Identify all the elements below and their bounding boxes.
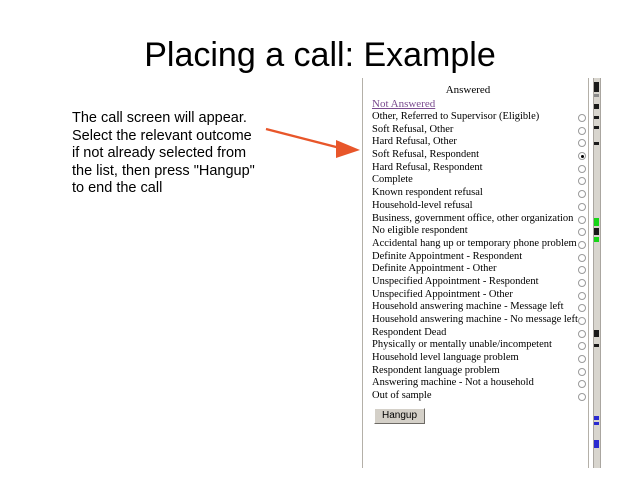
- outcome-radio-button[interactable]: [578, 355, 586, 363]
- outcome-radio-button[interactable]: [578, 266, 586, 274]
- outcome-row[interactable]: Household answering machine - No message…: [363, 314, 590, 327]
- scrollbar-track[interactable]: [593, 78, 601, 468]
- outcome-radio-button[interactable]: [578, 152, 586, 160]
- outcome-row[interactable]: Answering machine - Not a household: [363, 377, 590, 390]
- outcome-radio-button[interactable]: [578, 254, 586, 262]
- sliver-content-mark: [594, 344, 599, 347]
- outcome-radio-button[interactable]: [578, 279, 586, 287]
- outcome-radio-button[interactable]: [578, 292, 586, 300]
- outcome-label: Respondent Dead: [372, 327, 446, 340]
- outcome-label: Respondent language problem: [372, 365, 500, 378]
- outcome-row[interactable]: Definite Appointment - Other: [363, 263, 590, 276]
- outcome-radio-button[interactable]: [578, 241, 586, 249]
- outcome-row[interactable]: Known respondent refusal: [363, 187, 590, 200]
- outcome-row[interactable]: Business, government office, other organ…: [363, 213, 590, 226]
- outcome-radio-button[interactable]: [578, 177, 586, 185]
- outcome-label: Hard Refusal, Other: [372, 136, 457, 149]
- outcome-row[interactable]: Respondent language problem: [363, 365, 590, 378]
- not-answered-link[interactable]: Not Answered: [372, 98, 435, 110]
- caption-line: The call screen will appear.: [72, 110, 282, 128]
- sliver-content-mark: [594, 218, 599, 226]
- outcome-label: Other, Referred to Supervisor (Eligible): [372, 111, 539, 124]
- sliver-content-mark: [594, 104, 599, 109]
- outcome-radio-button[interactable]: [578, 393, 586, 401]
- sliver-content-mark: [594, 142, 599, 145]
- outcome-row[interactable]: Hard Refusal, Respondent: [363, 162, 590, 175]
- outcome-row[interactable]: Physically or mentally unable/incompeten…: [363, 339, 590, 352]
- outcome-radio-button[interactable]: [578, 330, 586, 338]
- outcome-row[interactable]: Hard Refusal, Other: [363, 136, 590, 149]
- outcome-label: Household level language problem: [372, 352, 519, 365]
- outcome-row[interactable]: Out of sample: [363, 390, 590, 403]
- outcome-label: Hard Refusal, Respondent: [372, 162, 483, 175]
- outcome-radio-button[interactable]: [578, 342, 586, 350]
- outcome-radio-button[interactable]: [578, 114, 586, 122]
- outcome-radio-button[interactable]: [578, 228, 586, 236]
- outcome-label: Business, government office, other organ…: [372, 213, 573, 226]
- sliver-content-mark: [594, 82, 599, 92]
- answered-header-label: Answered: [363, 84, 573, 96]
- instruction-caption: The call screen will appear. Select the …: [72, 110, 282, 198]
- outcome-row[interactable]: Household answering machine - Message le…: [363, 301, 590, 314]
- slide-canvas: Placing a call: Example The call screen …: [0, 0, 640, 480]
- page-title: Placing a call: Example: [0, 36, 640, 75]
- outcome-row[interactable]: Definite Appointment - Respondent: [363, 251, 590, 264]
- outcome-row[interactable]: Respondent Dead: [363, 327, 590, 340]
- outcome-radio-button[interactable]: [578, 317, 586, 325]
- outcome-label: Definite Appointment - Respondent: [372, 251, 522, 264]
- outcome-radio-button[interactable]: [578, 190, 586, 198]
- outcome-label: Accidental hang up or temporary phone pr…: [372, 238, 577, 251]
- outcome-radio-button[interactable]: [578, 139, 586, 147]
- outcome-radio-button[interactable]: [578, 304, 586, 312]
- outcome-label: Household-level refusal: [372, 200, 473, 213]
- outcome-label: Physically or mentally unable/incompeten…: [372, 339, 552, 352]
- outcome-radio-button[interactable]: [578, 203, 586, 211]
- outcome-radio-button[interactable]: [578, 216, 586, 224]
- sliver-content-mark: [594, 330, 599, 337]
- outcome-row[interactable]: Unspecified Appointment - Other: [363, 289, 590, 302]
- outcome-row[interactable]: Household level language problem: [363, 352, 590, 365]
- sliver-content-mark: [594, 440, 599, 448]
- sliver-content-mark: [594, 237, 599, 242]
- sliver-content-mark: [594, 416, 599, 420]
- outcome-radio-button[interactable]: [578, 380, 586, 388]
- outcome-row[interactable]: Soft Refusal, Other: [363, 124, 590, 137]
- sliver-content-mark: [594, 94, 599, 97]
- outcome-label: No eligible respondent: [372, 225, 468, 238]
- background-window-sliver: [589, 78, 640, 468]
- outcome-row[interactable]: Accidental hang up or temporary phone pr…: [363, 238, 590, 251]
- sliver-content-mark: [594, 116, 599, 119]
- outcome-label: Out of sample: [372, 390, 432, 403]
- outcome-label: Known respondent refusal: [372, 187, 483, 200]
- outcome-label: Soft Refusal, Other: [372, 124, 453, 137]
- outcome-label: Soft Refusal, Respondent: [372, 149, 479, 162]
- outcome-label: Unspecified Appointment - Other: [372, 289, 513, 302]
- outcome-row[interactable]: Household-level refusal: [363, 200, 590, 213]
- call-screen-panel: Answered Not Answered Other, Referred to…: [362, 78, 589, 468]
- caption-line: the list, then press "Hangup": [72, 163, 282, 181]
- outcome-radio-button[interactable]: [578, 127, 586, 135]
- sliver-content-mark: [594, 228, 599, 235]
- hangup-button[interactable]: Hangup: [374, 408, 425, 424]
- outcome-label: Answering machine - Not a household: [372, 377, 534, 390]
- caption-line: if not already selected from: [72, 145, 282, 163]
- outcome-row[interactable]: No eligible respondent: [363, 225, 590, 238]
- outcome-row[interactable]: Complete: [363, 174, 590, 187]
- outcome-label: Complete: [372, 174, 413, 187]
- outcome-label: Household answering machine - No message…: [372, 314, 578, 327]
- outcome-label: Definite Appointment - Other: [372, 263, 497, 276]
- outcome-row[interactable]: Soft Refusal, Respondent: [363, 149, 590, 162]
- outcome-radio-button[interactable]: [578, 165, 586, 173]
- call-outcome-list[interactable]: Other, Referred to Supervisor (Eligible)…: [363, 111, 590, 403]
- sliver-content-mark: [594, 126, 599, 129]
- outcome-label: Household answering machine - Message le…: [372, 301, 564, 314]
- outcome-label: Unspecified Appointment - Respondent: [372, 276, 539, 289]
- outcome-row[interactable]: Unspecified Appointment - Respondent: [363, 276, 590, 289]
- caption-line: to end the call: [72, 180, 282, 198]
- sliver-content-mark: [594, 422, 599, 425]
- outcome-radio-button[interactable]: [578, 368, 586, 376]
- outcome-row[interactable]: Other, Referred to Supervisor (Eligible): [363, 111, 590, 124]
- caption-line: Select the relevant outcome: [72, 128, 282, 146]
